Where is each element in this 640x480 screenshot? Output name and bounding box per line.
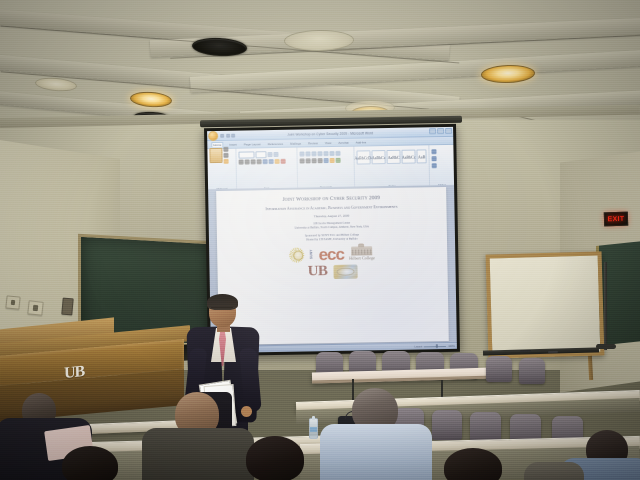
- status-bar-right[interactable]: Layout 100%: [414, 344, 454, 348]
- tab-review[interactable]: Review: [307, 141, 319, 145]
- slide-subtitle: Information Assurance in Academic, Busin…: [222, 204, 440, 212]
- maximize-icon[interactable]: [437, 128, 444, 134]
- style-normal[interactable]: AaBbCcDc: [357, 150, 371, 164]
- tab-page-layout[interactable]: Page Layout: [243, 142, 262, 146]
- slide-date: Thursday, August 27, 2009: [223, 212, 441, 220]
- equipment-base: [596, 344, 616, 349]
- italic-icon[interactable]: [244, 159, 249, 164]
- underline-icon[interactable]: [250, 159, 255, 164]
- equipment-pole: [604, 262, 607, 350]
- tab-insert[interactable]: Insert: [228, 142, 238, 146]
- tab-references[interactable]: References: [267, 141, 284, 145]
- suny-wordmark-logo: SUNY: [310, 250, 314, 260]
- slide-venue: 108 Jacobs Management Center University …: [223, 220, 441, 232]
- water-bottle: [309, 418, 318, 439]
- power-outlet-icon: [5, 295, 20, 309]
- zoom-slider[interactable]: [424, 346, 446, 347]
- hilbert-college-logo: Hilbert College: [349, 246, 375, 261]
- table-leg: [352, 379, 354, 401]
- numbering-icon[interactable]: [305, 151, 310, 156]
- hilbert-building-icon: [351, 246, 372, 255]
- whiteboard: [486, 251, 605, 358]
- borders-icon[interactable]: [335, 158, 340, 163]
- marker-icon: [520, 350, 531, 352]
- hilbert-college-label: Hilbert College: [349, 256, 375, 261]
- align-right-icon[interactable]: [311, 158, 316, 163]
- zoom-level-label[interactable]: 100%: [448, 344, 455, 347]
- suny-seal-logo-icon: [289, 247, 304, 262]
- attendee-shoulders: [142, 428, 254, 480]
- chair: [432, 410, 462, 440]
- sort-icon[interactable]: [329, 151, 334, 156]
- ribbon-group-font[interactable]: Font: [236, 148, 298, 191]
- attendee-shoulders: [524, 462, 584, 480]
- tab-view[interactable]: View: [324, 140, 333, 144]
- superscript-icon[interactable]: [268, 159, 273, 164]
- bullets-icon[interactable]: [299, 151, 304, 156]
- format-painter-icon[interactable]: [224, 159, 229, 164]
- slide-credits: Sponsored by SUNY ECC and Hilbert Colleg…: [223, 232, 441, 244]
- bold-icon[interactable]: [238, 160, 243, 165]
- close-icon[interactable]: [445, 128, 452, 134]
- ub-logo: UB: [308, 265, 328, 278]
- tab-home[interactable]: Home: [211, 142, 223, 147]
- glasses-icon: [211, 307, 233, 312]
- window-title: Joint Workshop on Cyber Security 2009 - …: [207, 129, 453, 137]
- replace-icon[interactable]: [432, 156, 437, 161]
- minimize-icon[interactable]: [429, 128, 436, 134]
- attendee-head: [62, 446, 118, 480]
- tab-mailings[interactable]: Mailings: [289, 141, 302, 145]
- cut-icon[interactable]: [223, 147, 228, 152]
- tab-add-ins[interactable]: Add-Ins: [355, 140, 367, 144]
- font-color-icon[interactable]: [280, 159, 285, 164]
- decrease-indent-icon[interactable]: [317, 151, 322, 156]
- tab-acrobat[interactable]: Acrobat: [337, 140, 349, 144]
- lecture-hall-photo: EXIT Joint Workshop on Cyber Security 20…: [0, 0, 640, 480]
- multilevel-list-icon[interactable]: [311, 151, 316, 156]
- window-controls[interactable]: [429, 128, 452, 134]
- chair: [519, 358, 545, 384]
- copy-icon[interactable]: [223, 153, 228, 158]
- style-heading-1[interactable]: AaBbC: [387, 150, 401, 164]
- slide-title: Joint Workshop on Cyber Security 2009: [222, 194, 440, 204]
- text-highlight-icon[interactable]: [274, 159, 279, 164]
- view-mode-label[interactable]: Layout: [414, 345, 422, 348]
- exit-sign-label: EXIT: [607, 215, 624, 223]
- ribbon-group-paragraph[interactable]: Paragraph: [297, 147, 355, 190]
- style-no-spacing[interactable]: AaBbCc: [372, 150, 386, 164]
- select-icon[interactable]: [432, 163, 437, 168]
- ecc-logo: ecc: [318, 247, 344, 260]
- ribbon-group-editing[interactable]: Editing: [429, 145, 454, 187]
- grow-font-icon[interactable]: [267, 152, 272, 157]
- align-center-icon[interactable]: [305, 158, 310, 163]
- light-switch-icon[interactable]: [61, 298, 73, 316]
- shading-icon[interactable]: [329, 158, 334, 163]
- style-heading-2[interactable]: AaBbCc: [402, 150, 416, 164]
- attendee-head: [444, 448, 502, 480]
- chair: [486, 356, 512, 382]
- ribbon-group-styles[interactable]: AaBbCcDc AaBbCc AaBbC AaBbCc AaB Styles: [354, 145, 430, 188]
- align-left-icon[interactable]: [299, 158, 304, 163]
- ribbon-group-clipboard[interactable]: Clipboard: [207, 149, 236, 191]
- line-spacing-icon[interactable]: [323, 158, 328, 163]
- shrink-font-icon[interactable]: [273, 152, 278, 157]
- show-marks-icon[interactable]: [335, 151, 340, 156]
- attendee-shoulders: [320, 424, 432, 480]
- justify-icon[interactable]: [317, 158, 322, 163]
- power-outlet-icon: [27, 300, 43, 315]
- style-title[interactable]: AaB: [417, 149, 427, 163]
- slide-logo-row-1: SUNY ecc Hilbert College: [223, 245, 441, 264]
- marker-icon: [548, 351, 558, 353]
- exit-sign: EXIT: [604, 212, 628, 227]
- increase-indent-icon[interactable]: [323, 151, 328, 156]
- presenter-hand-right: [241, 406, 252, 417]
- find-icon[interactable]: [432, 149, 437, 154]
- paste-icon[interactable]: [209, 148, 222, 163]
- attendee-head: [246, 436, 304, 480]
- cit-iame-logo-icon: [333, 264, 357, 278]
- subscript-icon[interactable]: [262, 159, 267, 164]
- slide-logo-row-2: UB: [223, 263, 441, 281]
- strikethrough-icon[interactable]: [256, 159, 261, 164]
